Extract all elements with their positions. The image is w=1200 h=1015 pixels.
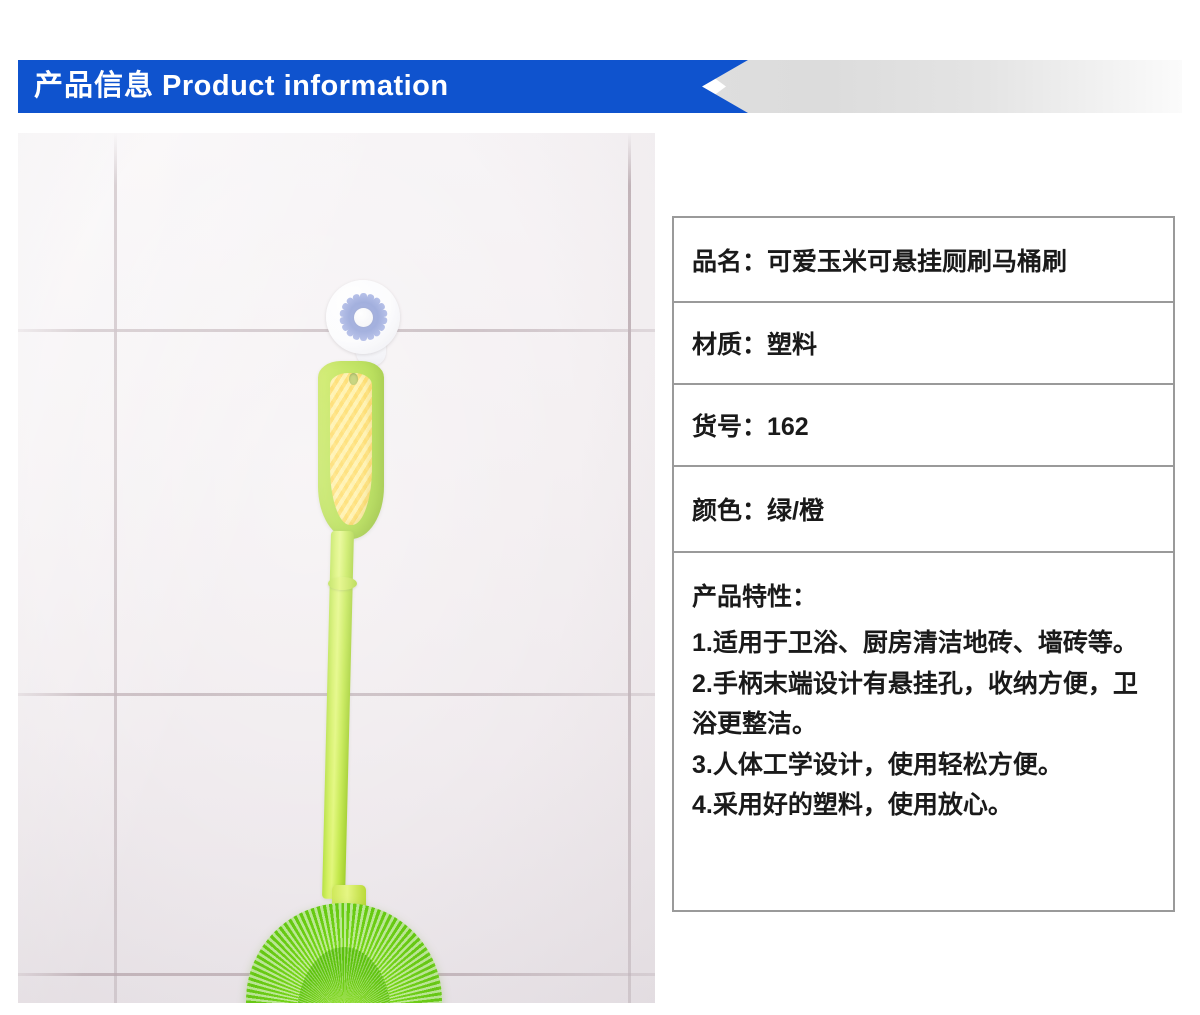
hook-disc <box>326 280 400 354</box>
table-row: 材质：塑料 <box>674 303 1173 385</box>
flower-core <box>354 308 373 327</box>
product-spec-table: 品名：可爱玉米可悬挂厕刷马桶刷 材质：塑料 货号：162 颜色：绿/橙 产品特性… <box>672 216 1175 912</box>
brush-head <box>246 903 442 1003</box>
spec-product-name: 品名：可爱玉米可悬挂厕刷马桶刷 <box>692 242 1067 278</box>
features-list: 1.适用于卫浴、厨房清洁地砖、墙砖等。 2.手柄末端设计有悬挂孔，收纳方便，卫浴… <box>692 623 1154 826</box>
banner-blue-ribbon: 产品信息Product information <box>18 60 748 113</box>
grout-line-vertical <box>628 133 631 1003</box>
product-photo <box>18 133 655 1003</box>
page-title: 产品信息Product information <box>34 72 449 101</box>
grout-line-vertical <box>114 133 117 1003</box>
spec-item-number: 货号：162 <box>692 407 809 443</box>
corn-kernel-texture <box>330 373 372 525</box>
table-row: 颜色：绿/橙 <box>674 467 1173 553</box>
list-item: 2.手柄末端设计有悬挂孔，收纳方便，卫浴更整洁。 <box>692 664 1154 745</box>
table-row: 品名：可爱玉米可悬挂厕刷马桶刷 <box>674 218 1173 303</box>
flower-suction-hook-icon <box>326 280 404 368</box>
table-row: 货号：162 <box>674 385 1173 467</box>
page-title-cn: 产品信息 <box>34 70 154 102</box>
handle-ring <box>328 577 357 590</box>
list-item: 1.适用于卫浴、厨房清洁地砖、墙砖等。 <box>692 623 1154 664</box>
list-item: 3.人体工学设计，使用轻松方便。 <box>692 745 1154 786</box>
banner-gray-tail <box>690 60 1182 113</box>
table-row-features: 产品特性： 1.适用于卫浴、厨房清洁地砖、墙砖等。 2.手柄末端设计有悬挂孔，收… <box>674 553 1173 910</box>
section-banner: 产品信息Product information <box>18 60 1182 113</box>
spec-material: 材质：塑料 <box>692 325 817 361</box>
hanging-hole <box>349 373 358 385</box>
features-heading: 产品特性： <box>692 577 817 613</box>
list-item: 4.采用好的塑料，使用放心。 <box>692 785 1154 826</box>
spec-color: 颜色：绿/橙 <box>692 491 824 527</box>
page-title-en: Product information <box>162 70 449 102</box>
flower-petals <box>335 289 391 345</box>
